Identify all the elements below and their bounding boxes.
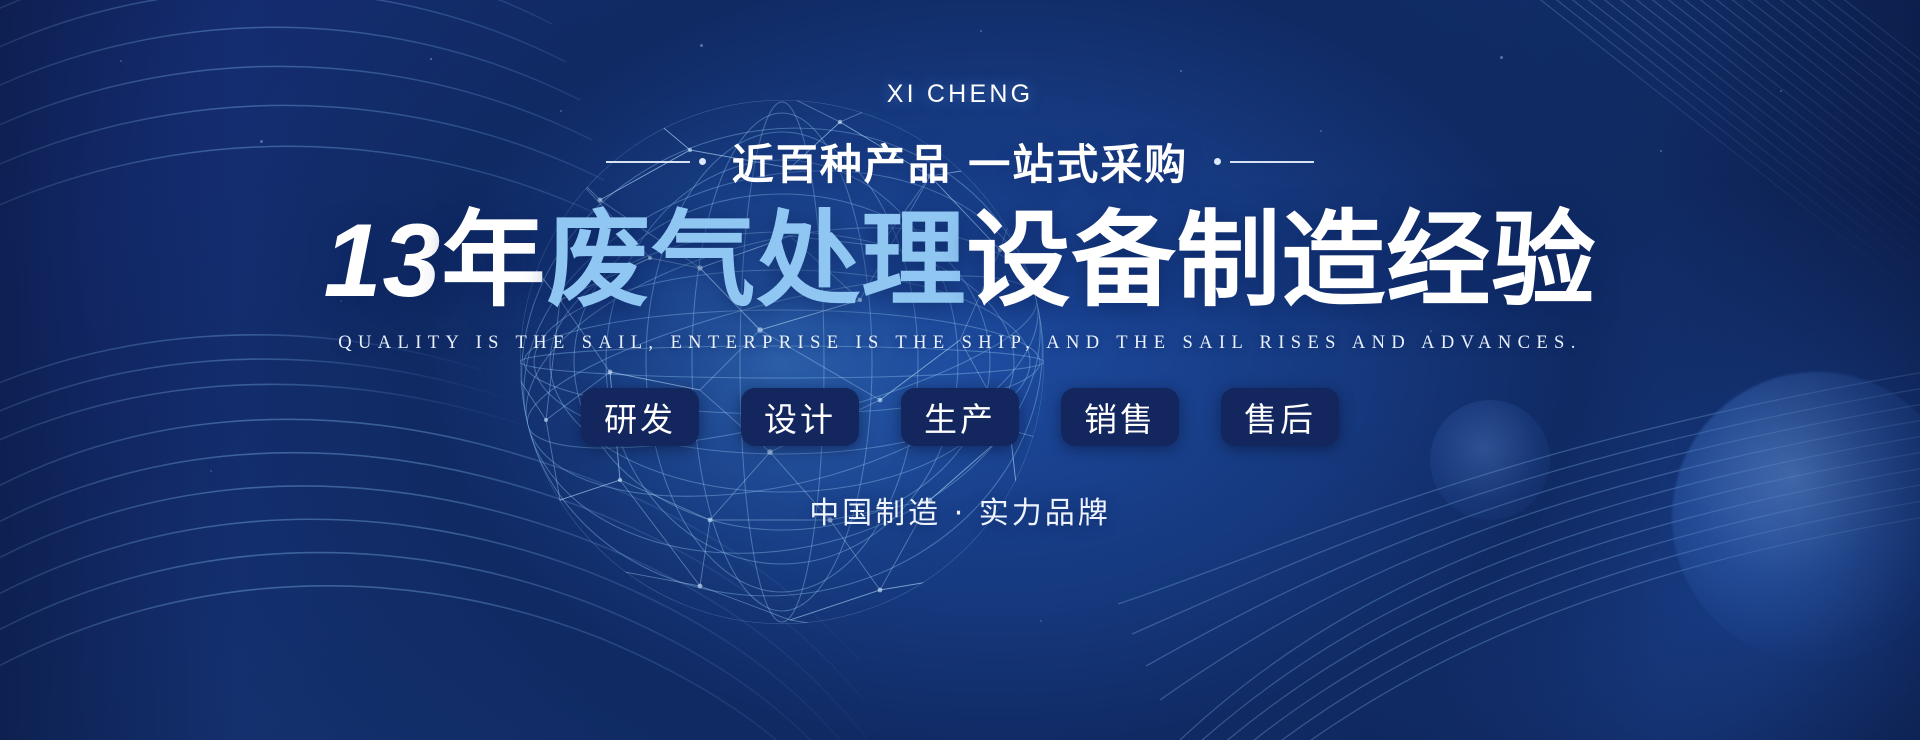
subtitle-row: 近百种产品 一站式采购 (606, 131, 1315, 192)
subtitle-cn: 近百种产品 一站式采购 (732, 131, 1189, 192)
line-dot-icon (699, 158, 706, 165)
headline-number: 13 (324, 203, 442, 319)
footer-slogan: 中国制造 · 实力品牌 (809, 488, 1111, 532)
service-pill-design[interactable]: 设计 (741, 388, 859, 446)
service-pill-rd[interactable]: 研发 (581, 388, 699, 446)
decorative-line-right (1214, 158, 1314, 165)
headline-unit: 年 (441, 199, 546, 321)
headline-accent: 废气处理 (546, 199, 966, 321)
service-pill-production[interactable]: 生产 (901, 388, 1019, 446)
brand-name-en: XI CHENG (887, 80, 1033, 109)
service-pill-aftersales[interactable]: 售后 (1221, 388, 1339, 446)
headline: 13年废气处理设备制造经验 (324, 202, 1597, 319)
banner-content: XI CHENG 近百种产品 一站式采购 13年废气处理设备制造经验 QUALI… (0, 0, 1920, 740)
service-pill-row: 研发 设计 生产 销售 售后 (581, 388, 1339, 446)
hero-banner: XI CHENG 近百种产品 一站式采购 13年废气处理设备制造经验 QUALI… (0, 0, 1920, 740)
service-pill-sales[interactable]: 销售 (1061, 388, 1179, 446)
line-bar-icon (606, 161, 690, 163)
tagline-en: QUALITY IS THE SAIL, ENTERPRISE IS THE S… (338, 333, 1581, 354)
line-dot-icon (1214, 158, 1221, 165)
decorative-line-left (606, 158, 706, 165)
headline-tail: 设备制造经验 (966, 199, 1596, 321)
line-bar-icon (1230, 161, 1314, 163)
